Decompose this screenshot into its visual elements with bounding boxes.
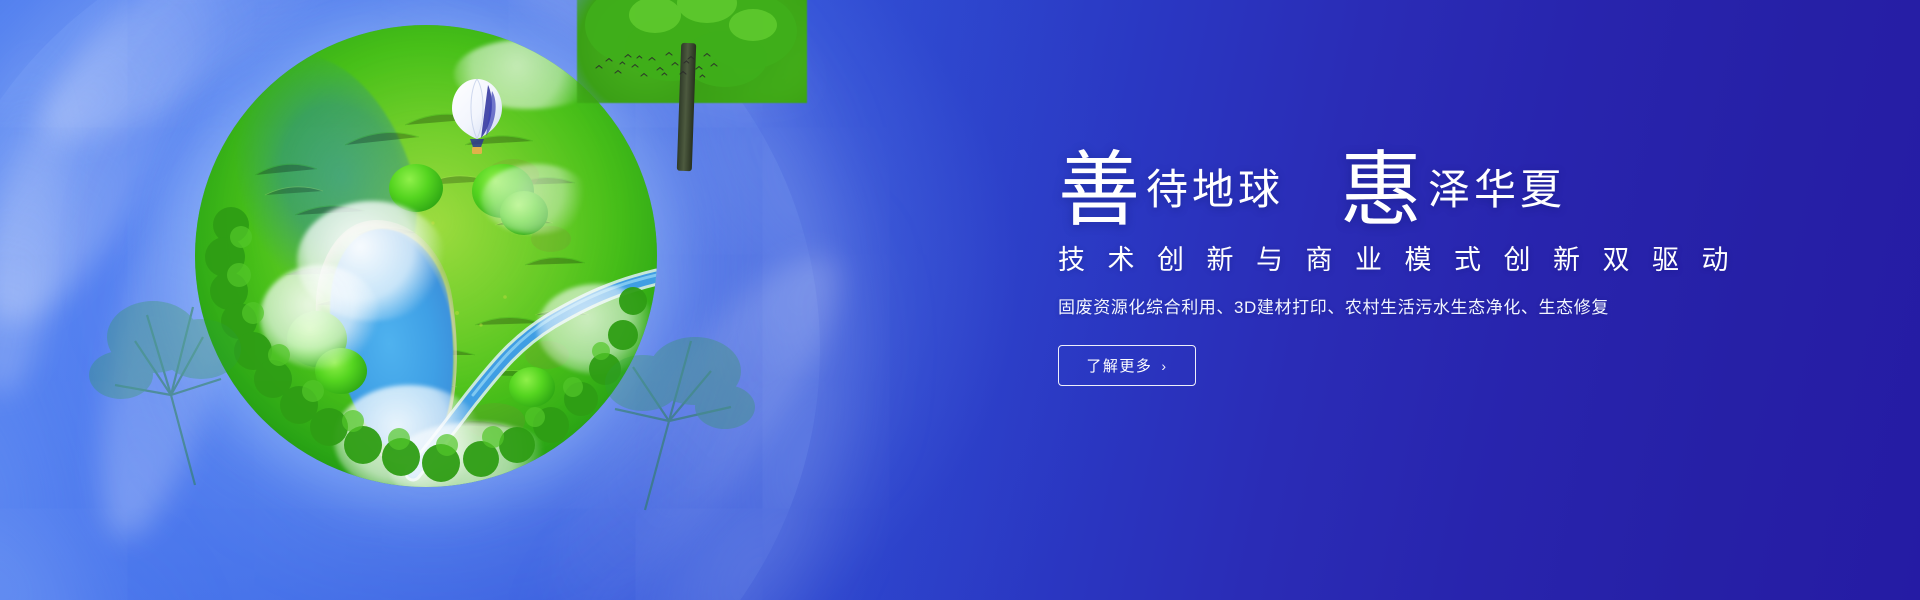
headline-daidiqiu: 待地球 — [1140, 170, 1284, 212]
learn-more-label: 了解更多 — [1086, 355, 1152, 376]
subtitle: 技 术 创 新 与 商 业 模 式 创 新 双 驱 动 — [1058, 244, 1758, 276]
globe-image — [195, 25, 657, 487]
silhouette-tree-icon — [75, 245, 275, 495]
hero-content: 善 待地球 惠 泽华夏 技 术 创 新 与 商 业 模 式 创 新 双 驱 动 … — [1058, 126, 1758, 386]
headline: 善 待地球 惠 泽华夏 — [1058, 126, 1758, 222]
headline-char-shan: 善 — [1058, 153, 1140, 228]
silhouette-tree-icon — [585, 275, 775, 515]
headline-char-hui: 惠 — [1340, 153, 1422, 228]
chevron-right-icon: › — [1161, 358, 1167, 374]
hero-banner: 善 待地球 惠 泽华夏 技 术 创 新 与 商 业 模 式 创 新 双 驱 动 … — [0, 0, 1920, 600]
description: 固废资源化综合利用、3D建材打印、农村生活污水生态净化、生态修复 — [1058, 297, 1758, 319]
bird-flock-icon — [592, 48, 722, 88]
learn-more-button[interactable]: 了解更多 › — [1058, 345, 1196, 386]
hot-air-balloon-icon — [448, 77, 506, 159]
headline-zehuaxia: 泽华夏 — [1422, 170, 1566, 212]
